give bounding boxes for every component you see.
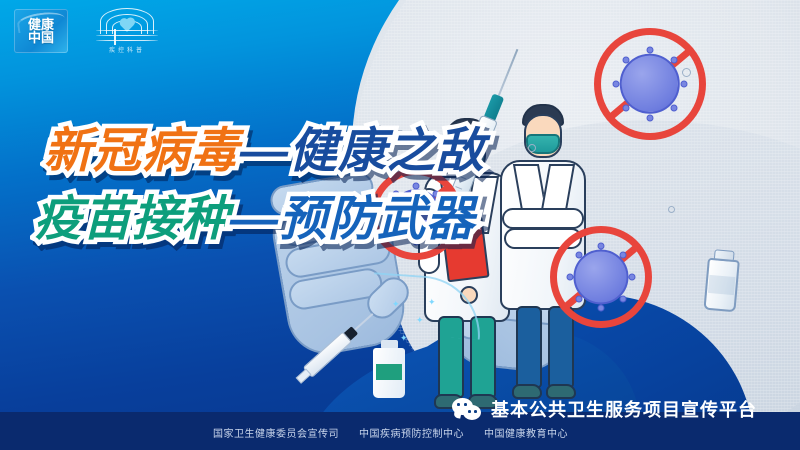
logo-swoosh-icon (16, 10, 66, 34)
headline-line-2-highlight: 疫苗接种 (34, 193, 230, 246)
decorative-dot (528, 144, 536, 152)
headline-line-2: 疫苗接种—预防武器 (34, 196, 485, 244)
vial-label (708, 275, 735, 295)
credit-item: 国家卫生健康委员会宣传司 (213, 425, 339, 440)
vial-label (376, 364, 402, 380)
scrub-pants (516, 306, 542, 388)
wechat-platform-label: 基本公共卫生服务项目宣传平台 (491, 396, 757, 422)
credit-item: 中国疾病预防控制中心 (359, 425, 464, 440)
syringe-vial-group: ✦ ✦ ✦ ✦ (330, 292, 450, 402)
virus-prohibited-badge (594, 28, 706, 140)
book-spine (114, 29, 116, 45)
headline-line-1: 新冠病毒—健康之敌 (44, 128, 485, 176)
vaccine-vial-icon (372, 340, 406, 398)
wechat-platform-banner: 基本公共卫生服务项目宣传平台 (452, 396, 757, 422)
headline-line-1-highlight: 新冠病毒 (44, 125, 240, 178)
headline: 新冠病毒—健康之敌 疫苗接种—预防武器 (44, 128, 485, 244)
headline-line-2-rest: —预防武器 (230, 193, 475, 246)
virus-prohibited-badge (550, 226, 652, 328)
logo-line-2: 中国 (28, 31, 54, 44)
healthy-china-logo: 健康 中国 (14, 9, 68, 53)
cdc-logo-caption: 疾控科普 (84, 45, 170, 54)
headline-line-1-rest: —健康之敌 (240, 125, 485, 178)
needle (497, 49, 518, 98)
footer-credits: 国家卫生健康委员会宣传司 中国疾病预防控制中心 中国健康教育中心 (213, 425, 568, 440)
decorative-dot (668, 206, 675, 213)
needle (353, 313, 374, 332)
wechat-icon (452, 398, 482, 420)
credit-item: 中国健康教育中心 (484, 425, 568, 440)
header-logos: 健康 中国 疾控科普 (14, 8, 170, 54)
vaccination-poster: 健康 中国 疾控科普 (0, 0, 800, 450)
open-book-icon (96, 30, 158, 46)
cdc-science-popularization-logo: 疾控科普 (84, 8, 170, 54)
vaccine-vial-icon (701, 249, 742, 314)
